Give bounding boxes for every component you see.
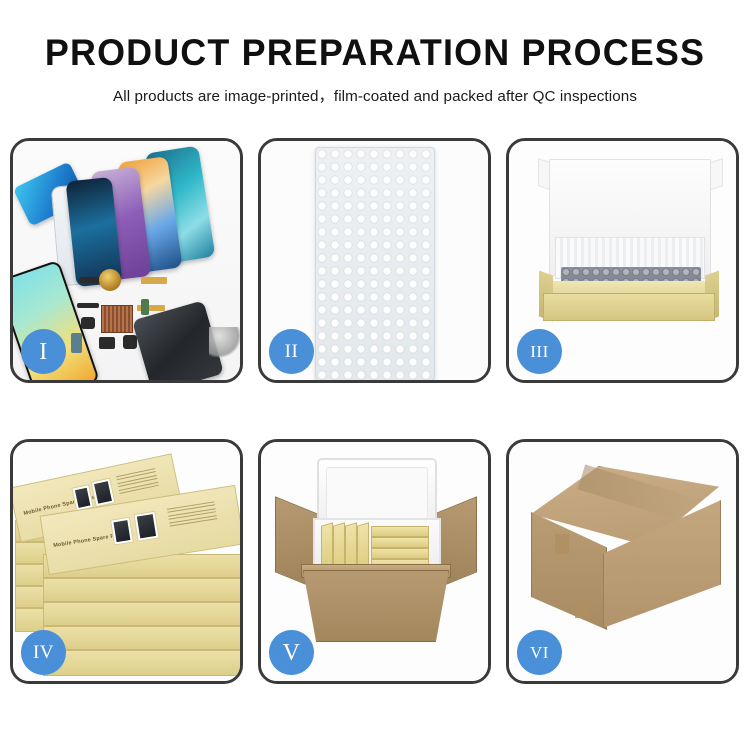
process-steps-grid: I II (10, 138, 740, 684)
process-step-1: I (10, 138, 243, 383)
small-connector-a (77, 303, 99, 308)
gold-box-front-panel (543, 293, 715, 321)
process-step-6: VI (506, 439, 739, 684)
product-preparation-process-infographic: PRODUCT PREPARATION PROCESS All products… (0, 0, 750, 750)
box-spec-lines (116, 468, 159, 496)
step-badge-5: V (269, 630, 314, 675)
step-badge-2: II (269, 329, 314, 374)
stacked-box (43, 650, 240, 676)
battery-cell (141, 299, 149, 315)
step-badge-1: I (21, 329, 66, 374)
box-thumb-a (110, 517, 134, 546)
step-badge-3: III (517, 329, 562, 374)
stacked-box (43, 602, 240, 626)
button-set (99, 337, 115, 349)
carton-body (303, 570, 449, 642)
box-thumb-b (133, 511, 159, 542)
gold-box-flat (371, 548, 429, 559)
stacked-box (43, 626, 240, 650)
process-step-5: V (258, 439, 491, 684)
header: PRODUCT PREPARATION PROCESS All products… (0, 0, 750, 106)
vibration-motor (99, 269, 121, 291)
screw-set (209, 327, 240, 357)
ic-chip-grid (101, 305, 133, 333)
page-subtitle: All products are image-printed，film-coat… (0, 84, 750, 106)
process-step-4: Mobile Phone Spare Parts Mobile Phone Sp… (10, 439, 243, 684)
carton-tape-patch-b (575, 602, 589, 618)
sim-tray (71, 333, 82, 353)
gold-box-flat (371, 537, 429, 548)
stacked-box (43, 578, 240, 602)
page-title: PRODUCT PREPARATION PROCESS (11, 34, 739, 73)
bubble-wrap-sleeve (315, 147, 435, 380)
flex-cable-a (141, 277, 167, 284)
process-step-3: III (506, 138, 739, 383)
box-thumb-b (91, 478, 116, 508)
step-badge-6: VI (517, 630, 562, 675)
earpiece (123, 335, 137, 349)
carton-tape-patch-a (555, 534, 569, 554)
box-spec-lines (167, 501, 218, 529)
camera-module (81, 317, 95, 329)
process-step-2: II (258, 138, 491, 383)
step-badge-4: IV (21, 630, 66, 675)
gold-box-flat (371, 526, 429, 537)
